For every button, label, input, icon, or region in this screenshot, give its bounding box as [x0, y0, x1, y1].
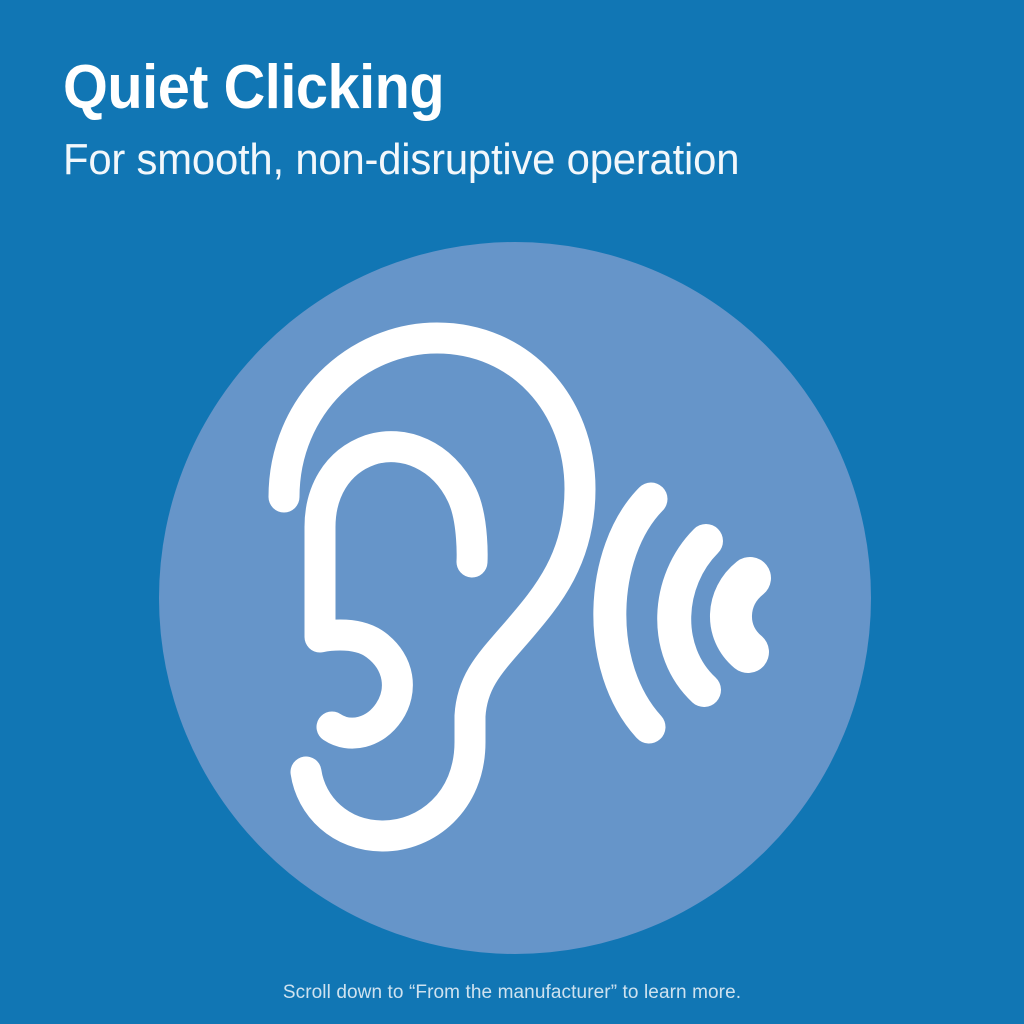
scroll-hint-caption: Scroll down to “From the manufacturer” t…: [0, 980, 1024, 1006]
sound-wave-arc-middle: [674, 541, 706, 690]
ear-listening-icon: [284, 338, 580, 836]
header-block: Quiet Clicking For smooth, non-disruptiv…: [63, 52, 963, 188]
page-subtitle: For smooth, non-disruptive operation: [63, 132, 918, 188]
ear-inner-antihelix: [320, 447, 472, 734]
sound-wave-arc-inner: [731, 578, 750, 652]
circle-badge: [159, 242, 871, 954]
ear-outer-helix: [284, 338, 580, 836]
sound-wave-arc-outer: [610, 499, 651, 727]
feature-panel: Quiet Clicking For smooth, non-disruptiv…: [0, 0, 1024, 1024]
page-title: Quiet Clicking: [63, 52, 900, 124]
sound-wave-group: [610, 499, 750, 727]
